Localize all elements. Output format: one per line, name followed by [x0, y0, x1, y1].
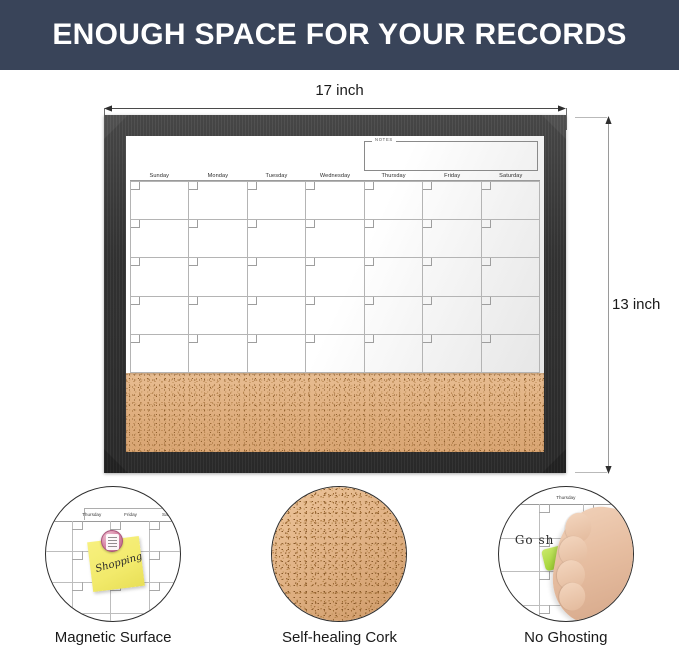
calendar-date-box — [423, 182, 432, 190]
calendar-day-cell[interactable] — [306, 220, 364, 258]
calendar-date-box — [248, 220, 257, 228]
feature-magnetic-surface: Thursday Friday Satu — [13, 486, 213, 646]
calendar-top-strip: NOTES — [130, 136, 540, 173]
calendar-day-cell[interactable] — [248, 297, 306, 335]
mini-day-thursday-3: Thursday — [556, 495, 575, 500]
calendar-day-cell[interactable] — [482, 182, 540, 220]
feature-callouts: Thursday Friday Satu — [0, 486, 679, 660]
day-of-week-sunday: Sunday — [130, 173, 189, 179]
calendar-date-box — [248, 297, 257, 305]
calendar-date-box — [189, 182, 198, 190]
day-of-week-thursday: Thursday — [364, 173, 423, 179]
calendar-day-cell[interactable] — [482, 335, 540, 373]
frame-corner-bottom-right — [542, 449, 566, 473]
calendar-day-cell[interactable] — [306, 335, 364, 373]
calendar-day-cell[interactable] — [423, 182, 481, 220]
board-surface: NOTES Sunday Monday Tuesday Wednesday Th… — [126, 136, 544, 452]
calendar-day-cell[interactable] — [189, 297, 247, 335]
notes-label: NOTES — [372, 137, 396, 142]
calendar-date-box — [248, 258, 257, 266]
calendar-day-cell[interactable] — [189, 258, 247, 296]
height-extension-line-bottom — [575, 472, 607, 473]
no-ghosting-icon: Thursday Go sh — [498, 486, 634, 622]
mini-notes-line — [84, 508, 178, 509]
magnetic-surface-icon: Thursday Friday Satu — [45, 486, 181, 622]
calendar-day-cell[interactable] — [189, 220, 247, 258]
day-of-week-friday: Friday — [423, 173, 482, 179]
feature-caption-no-ghosting: No Ghosting — [524, 629, 607, 646]
calendar-date-box — [131, 182, 140, 190]
feature-no-ghosting: Thursday Go sh — [466, 486, 666, 646]
calendar-date-box — [306, 297, 315, 305]
magnet-icon[interactable] — [101, 530, 123, 552]
calendar-date-box — [306, 182, 315, 190]
height-dimension-arrow — [604, 116, 613, 474]
frame-corner-top-left — [104, 115, 128, 139]
calendar-day-cell[interactable] — [482, 297, 540, 335]
calendar-date-box — [365, 258, 374, 266]
width-dimension-label: 17 inch — [0, 82, 679, 99]
calendar-day-cell[interactable] — [248, 220, 306, 258]
magnet-inner — [106, 534, 119, 550]
calendar-week-row — [131, 182, 540, 220]
feature-caption-magnetic-surface: Magnetic Surface — [55, 629, 172, 646]
height-dimension-label: 13 inch — [612, 296, 660, 313]
calendar-day-cell[interactable] — [131, 220, 189, 258]
calendar-day-cell[interactable] — [306, 182, 364, 220]
cork-strip — [126, 373, 544, 452]
calendar-day-cell[interactable] — [306, 297, 364, 335]
calendar-date-box — [189, 297, 198, 305]
cork-texture — [272, 487, 406, 621]
sticky-note-text: Shopping — [94, 551, 143, 575]
calendar-date-box — [423, 220, 432, 228]
calendar-day-cell[interactable] — [423, 297, 481, 335]
calendar-day-cell[interactable] — [131, 335, 189, 373]
calendar-day-cell[interactable] — [189, 182, 247, 220]
infographic-page: ENOUGH SPACE FOR YOUR RECORDS 17 inch 13… — [0, 0, 679, 660]
cork-swatch-icon — [271, 486, 407, 622]
calendar-week-row — [131, 220, 540, 258]
calendar-date-box — [131, 258, 140, 266]
calendar-date-box — [423, 297, 432, 305]
width-extension-line-right — [566, 108, 567, 130]
calendar-date-box — [482, 297, 491, 305]
day-of-week-monday: Monday — [189, 173, 248, 179]
whiteboard-calendar-zone: NOTES Sunday Monday Tuesday Wednesday Th… — [126, 136, 544, 373]
calendar-date-box — [482, 335, 491, 343]
day-of-week-saturday: Saturday — [481, 173, 540, 179]
calendar-date-box — [365, 220, 374, 228]
calendar-date-box — [365, 335, 374, 343]
calendar-day-cell[interactable] — [248, 258, 306, 296]
calendar-day-cell[interactable] — [482, 258, 540, 296]
calendar-day-cell[interactable] — [365, 258, 423, 296]
calendar-day-cell[interactable] — [248, 335, 306, 373]
feature-caption-self-healing-cork: Self-healing Cork — [282, 629, 397, 646]
calendar-date-box — [189, 258, 198, 266]
calendar-date-box — [248, 182, 257, 190]
calendar-date-box — [131, 335, 140, 343]
calendar-day-cell[interactable] — [365, 220, 423, 258]
calendar-date-box — [248, 335, 257, 343]
calendar-day-cell[interactable] — [131, 297, 189, 335]
feature-self-healing-cork: Self-healing Cork — [239, 486, 439, 646]
calendar-date-box — [365, 182, 374, 190]
calendar-date-box — [131, 297, 140, 305]
day-of-week-tuesday: Tuesday — [247, 173, 306, 179]
calendar-date-box — [306, 258, 315, 266]
calendar-date-box — [189, 220, 198, 228]
days-of-week-row: Sunday Monday Tuesday Wednesday Thursday… — [130, 173, 540, 181]
calendar-day-cell[interactable] — [248, 182, 306, 220]
calendar-grid — [130, 181, 540, 373]
calendar-date-box — [306, 335, 315, 343]
calendar-date-box — [482, 220, 491, 228]
calendar-day-cell[interactable] — [423, 258, 481, 296]
frame-corner-top-right — [542, 115, 566, 139]
calendar-week-row — [131, 335, 540, 373]
notes-box[interactable]: NOTES — [364, 141, 538, 171]
calendar-day-cell[interactable] — [131, 182, 189, 220]
calendar-week-row — [131, 297, 540, 335]
calendar-day-cell[interactable] — [365, 335, 423, 373]
frame-corner-bottom-left — [104, 449, 128, 473]
header-banner: ENOUGH SPACE FOR YOUR RECORDS — [0, 0, 679, 70]
calendar-date-box — [306, 220, 315, 228]
calendar-week-row — [131, 258, 540, 296]
calendar-date-box — [365, 297, 374, 305]
mini-day-friday: Friday — [124, 512, 137, 517]
calendar-day-cell[interactable] — [131, 258, 189, 296]
calendar-date-box — [423, 335, 432, 343]
calendar-day-cell[interactable] — [423, 220, 481, 258]
calendar-date-box — [189, 335, 198, 343]
calendar-day-cell[interactable] — [306, 258, 364, 296]
mini-day-saturday: Satu — [162, 512, 171, 517]
calendar-day-cell[interactable] — [189, 335, 247, 373]
calendar-date-box — [423, 258, 432, 266]
calendar-day-cell[interactable] — [365, 297, 423, 335]
page-title: ENOUGH SPACE FOR YOUR RECORDS — [52, 18, 626, 52]
calendar-day-cell[interactable] — [482, 220, 540, 258]
width-dimension-arrow — [104, 104, 566, 113]
day-of-week-wednesday: Wednesday — [306, 173, 365, 179]
calendar-day-cell[interactable] — [423, 335, 481, 373]
mini-day-thursday: Thursday — [82, 512, 101, 517]
height-extension-line-top — [575, 117, 607, 118]
calendar-date-box — [482, 258, 491, 266]
erased-writing-left: Go sh — [515, 533, 555, 547]
board-frame: NOTES Sunday Monday Tuesday Wednesday Th… — [104, 115, 566, 473]
calendar-day-cell[interactable] — [365, 182, 423, 220]
calendar-date-box — [482, 182, 491, 190]
calendar-date-box — [131, 220, 140, 228]
